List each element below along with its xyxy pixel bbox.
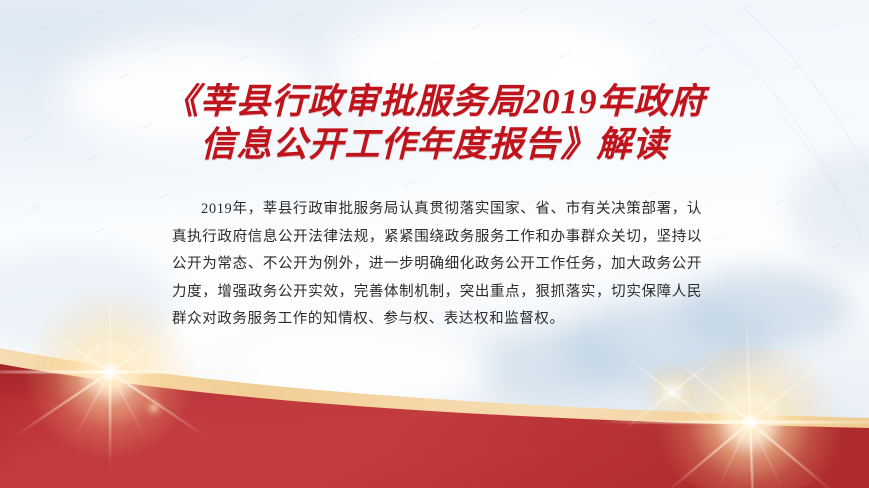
body-text-block: 2019年，莘县行政审批服务局认真贯彻落实国家、省、市有关决策部署，认真执行政府… (172, 196, 702, 334)
title-line-1: 《莘县行政审批服务局2019年政府 (0, 80, 869, 123)
title-line-2: 信息公开工作年度报告》解读 (0, 123, 869, 166)
slide-title: 《莘县行政审批服务局2019年政府 信息公开工作年度报告》解读 (0, 80, 869, 166)
slide-canvas: 《莘县行政审批服务局2019年政府 信息公开工作年度报告》解读 2019年，莘县… (0, 0, 869, 488)
body-paragraph: 2019年，莘县行政审批服务局认真贯彻落实国家、省、市有关决策部署，认真执行政府… (172, 196, 702, 334)
red-ribbon-wave (0, 338, 869, 488)
